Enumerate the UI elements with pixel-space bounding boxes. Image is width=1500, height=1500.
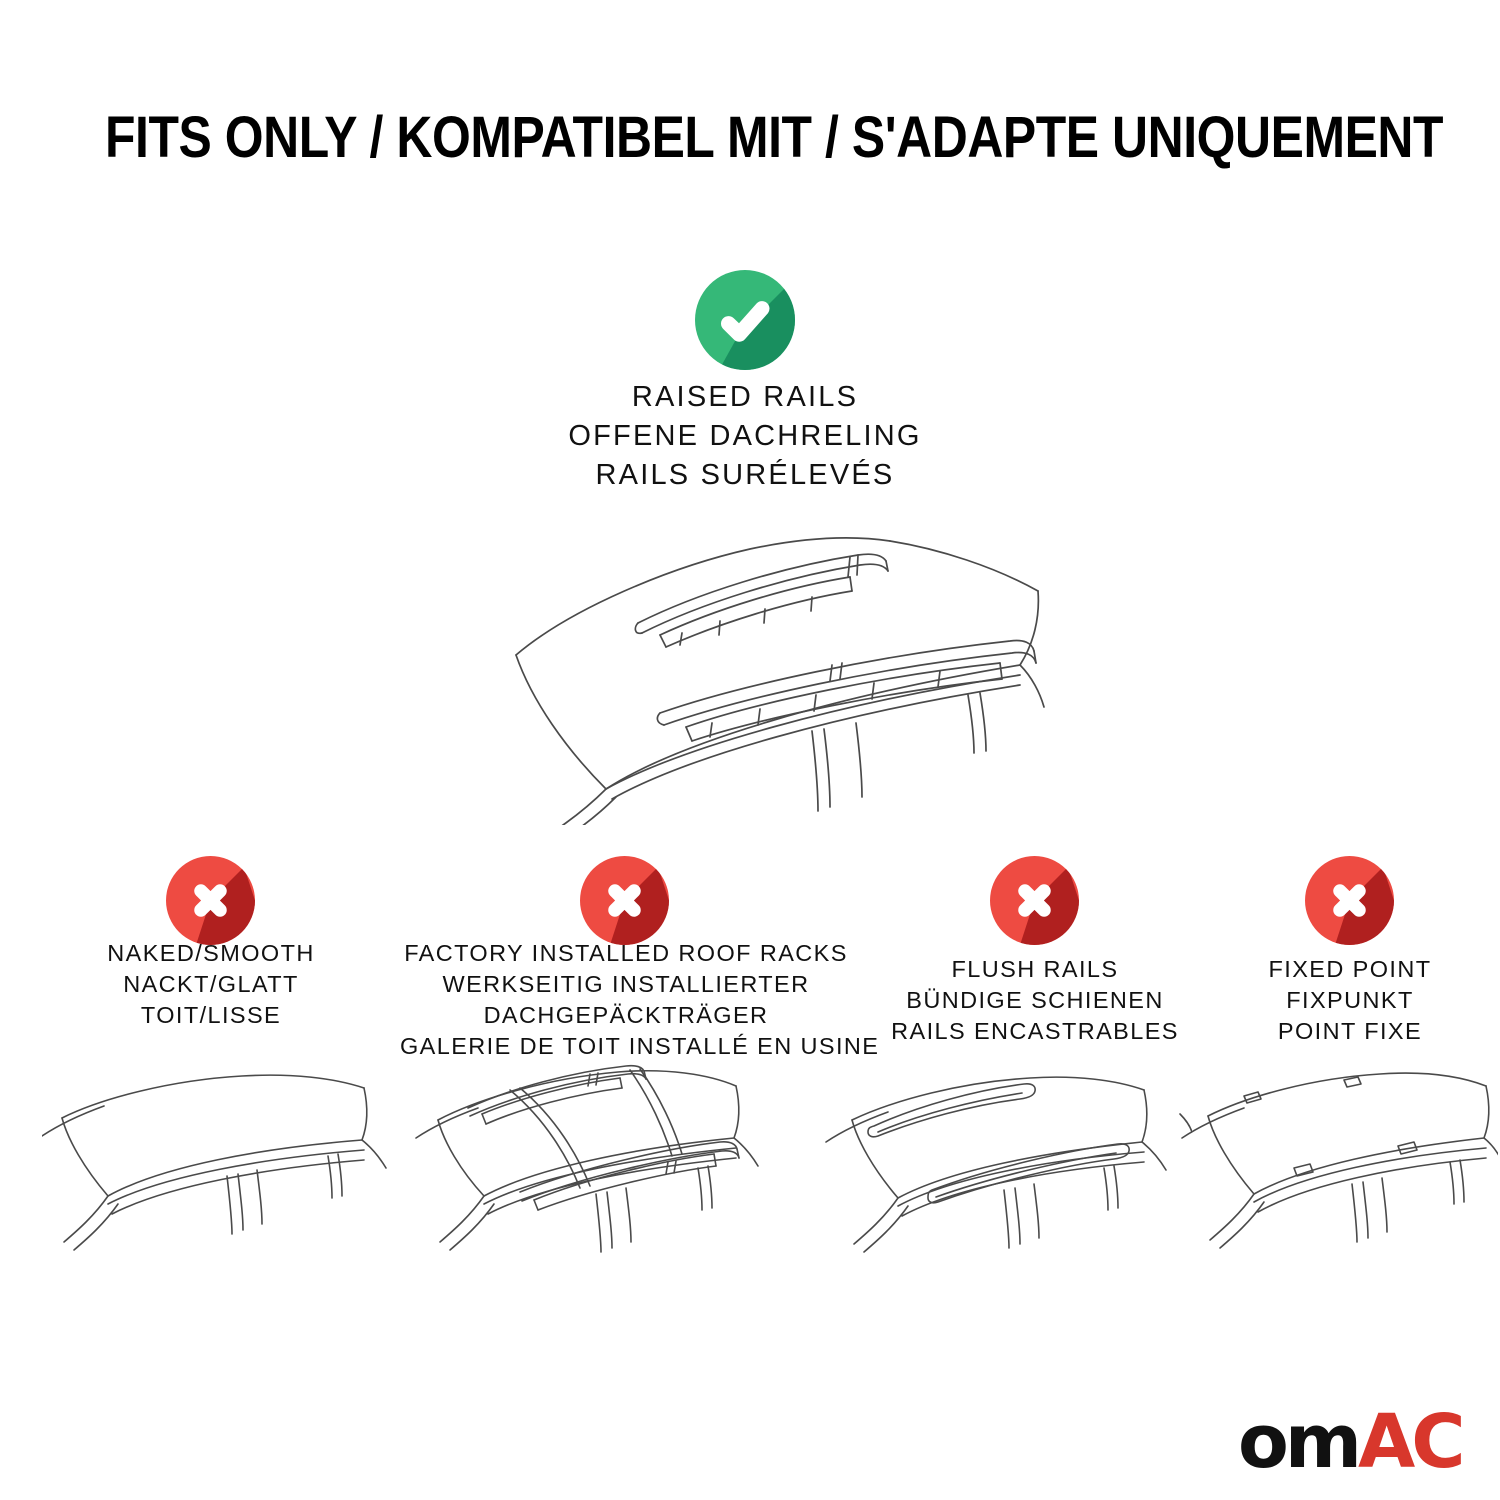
omac-logo: omAC (1238, 1404, 1480, 1480)
caption-line: NACKT/GLATT (30, 969, 392, 1000)
caption-line: RAILS SURÉLEVÉS (345, 456, 1145, 495)
logo-text-om: om (1238, 1399, 1358, 1485)
logo-text-ac: AC (1358, 1399, 1462, 1485)
compatible-caption: RAISED RAILS OFFENE DACHRELING RAILS SUR… (345, 378, 1145, 495)
caption-line: BÜNDIGE SCHIENEN (862, 985, 1208, 1016)
caption-line: TOIT/LISSE (30, 1000, 392, 1031)
caption-line: NAKED/SMOOTH (30, 938, 392, 969)
caption-line: FIXED POINT (1218, 954, 1482, 985)
x-circle-icon (1305, 856, 1394, 945)
car-roof-fixed-point-illustration (1168, 1058, 1498, 1288)
caption-line: OFFENE DACHRELING (345, 417, 1145, 456)
caption-line: POINT FIXE (1218, 1016, 1482, 1047)
check-circle-icon (695, 270, 795, 370)
caption-line: FLUSH RAILS (862, 954, 1208, 985)
caption-line: FIXPUNKT (1218, 985, 1482, 1016)
caption-line: DACHGEPÄCKTRÄGER (400, 1000, 852, 1031)
car-roof-raised-rails-illustration (420, 505, 1080, 825)
page-title: FITS ONLY / KOMPATIBEL MIT / S'ADAPTE UN… (105, 104, 1395, 171)
caption-line: FACTORY INSTALLED ROOF RACKS (400, 938, 852, 969)
x-circle-icon (990, 856, 1079, 945)
incompatible-caption-4: FIXED POINT FIXPUNKT POINT FIXE (1218, 954, 1482, 1047)
incompatible-caption-3: FLUSH RAILS BÜNDIGE SCHIENEN RAILS ENCAS… (862, 954, 1208, 1047)
incompatible-caption-1: NAKED/SMOOTH NACKT/GLATT TOIT/LISSE (30, 938, 392, 1031)
car-roof-flush-rails-illustration (808, 1058, 1192, 1288)
fitment-infographic: FITS ONLY / KOMPATIBEL MIT / S'ADAPTE UN… (0, 0, 1500, 1500)
caption-line: RAILS ENCASTRABLES (862, 1016, 1208, 1047)
x-circle-icon (580, 856, 669, 945)
car-roof-naked-smooth-illustration (42, 1058, 412, 1288)
x-circle-icon (166, 856, 255, 945)
car-roof-factory-roof-racks-illustration (400, 1048, 786, 1288)
caption-line: RAISED RAILS (345, 378, 1145, 417)
incompatible-caption-2: FACTORY INSTALLED ROOF RACKS WERKSEITIG … (400, 938, 852, 1062)
caption-line: WERKSEITIG INSTALLIERTER (400, 969, 852, 1000)
